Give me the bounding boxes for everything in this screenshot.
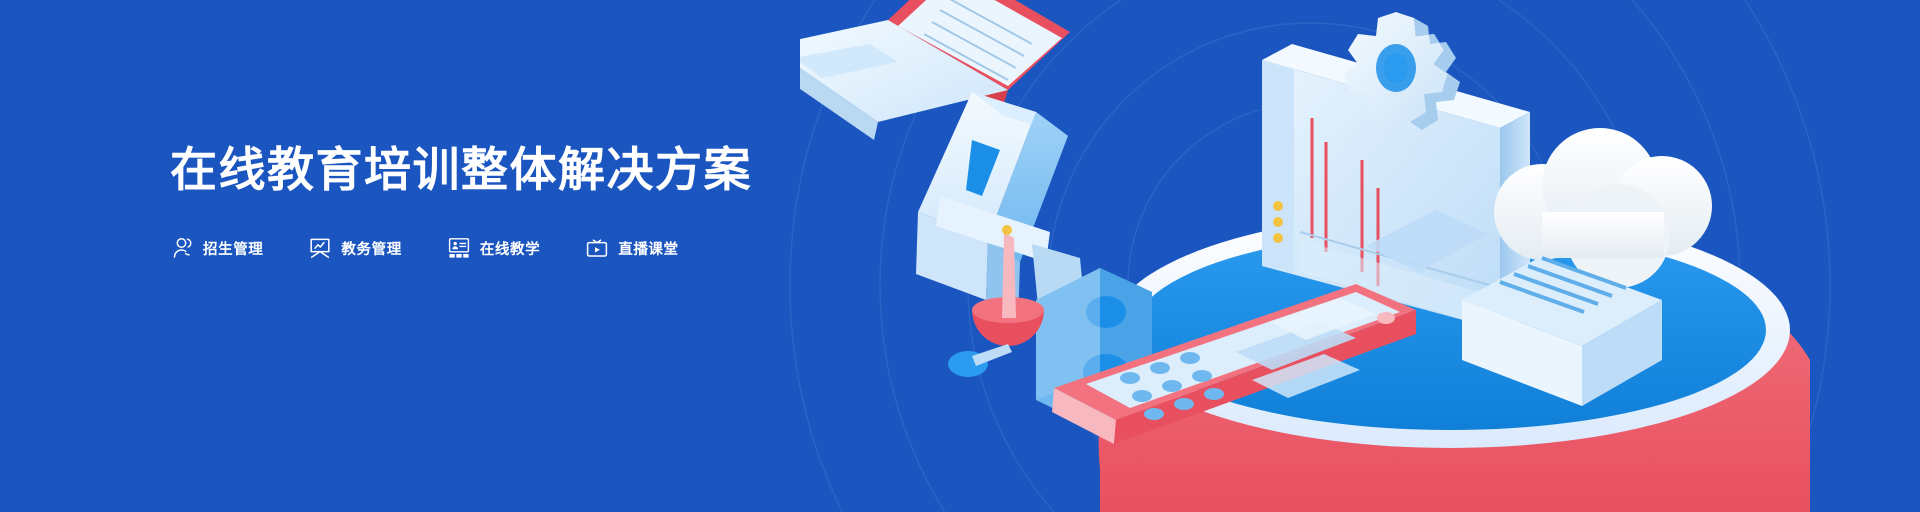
user-group-icon bbox=[170, 236, 194, 260]
feature-label: 招生管理 bbox=[203, 238, 263, 259]
text-block: 在线教育培训整体解决方案 招生管理 bbox=[170, 140, 870, 260]
spinning-top bbox=[948, 225, 1044, 377]
open-book bbox=[800, 0, 1070, 140]
education-banner: 在线教育培训整体解决方案 招生管理 bbox=[0, 0, 1920, 512]
striped-box bbox=[1462, 256, 1662, 406]
feature-label: 教务管理 bbox=[341, 238, 401, 259]
cloud-large bbox=[1494, 128, 1712, 288]
blue-disc-platform bbox=[1099, 212, 1810, 512]
feature-label: 在线教学 bbox=[480, 238, 540, 259]
tablet-calculator bbox=[1052, 284, 1416, 444]
page-title: 在线教育培训整体解决方案 bbox=[170, 140, 870, 200]
feature-item-live-classroom[interactable]: 直播课堂 bbox=[585, 236, 678, 260]
chart-window-panel bbox=[1262, 44, 1530, 330]
gear-icon bbox=[1344, 12, 1460, 130]
letter-b-3d bbox=[1036, 268, 1152, 426]
feature-item-online-teaching[interactable]: 在线教学 bbox=[447, 236, 540, 260]
chart-easel-icon bbox=[308, 236, 332, 260]
classroom-teaching-icon bbox=[447, 236, 471, 260]
feature-item-academic-affairs[interactable]: 教务管理 bbox=[308, 236, 401, 260]
letter-a-3d bbox=[916, 92, 1086, 324]
feature-label: 直播课堂 bbox=[618, 238, 678, 259]
illustration bbox=[800, 0, 1920, 512]
feature-list: 招生管理 教务管理 bbox=[170, 236, 870, 260]
feature-item-enrollment[interactable]: 招生管理 bbox=[170, 236, 263, 260]
tv-play-icon bbox=[585, 236, 609, 260]
tilted-panel bbox=[1366, 210, 1488, 272]
